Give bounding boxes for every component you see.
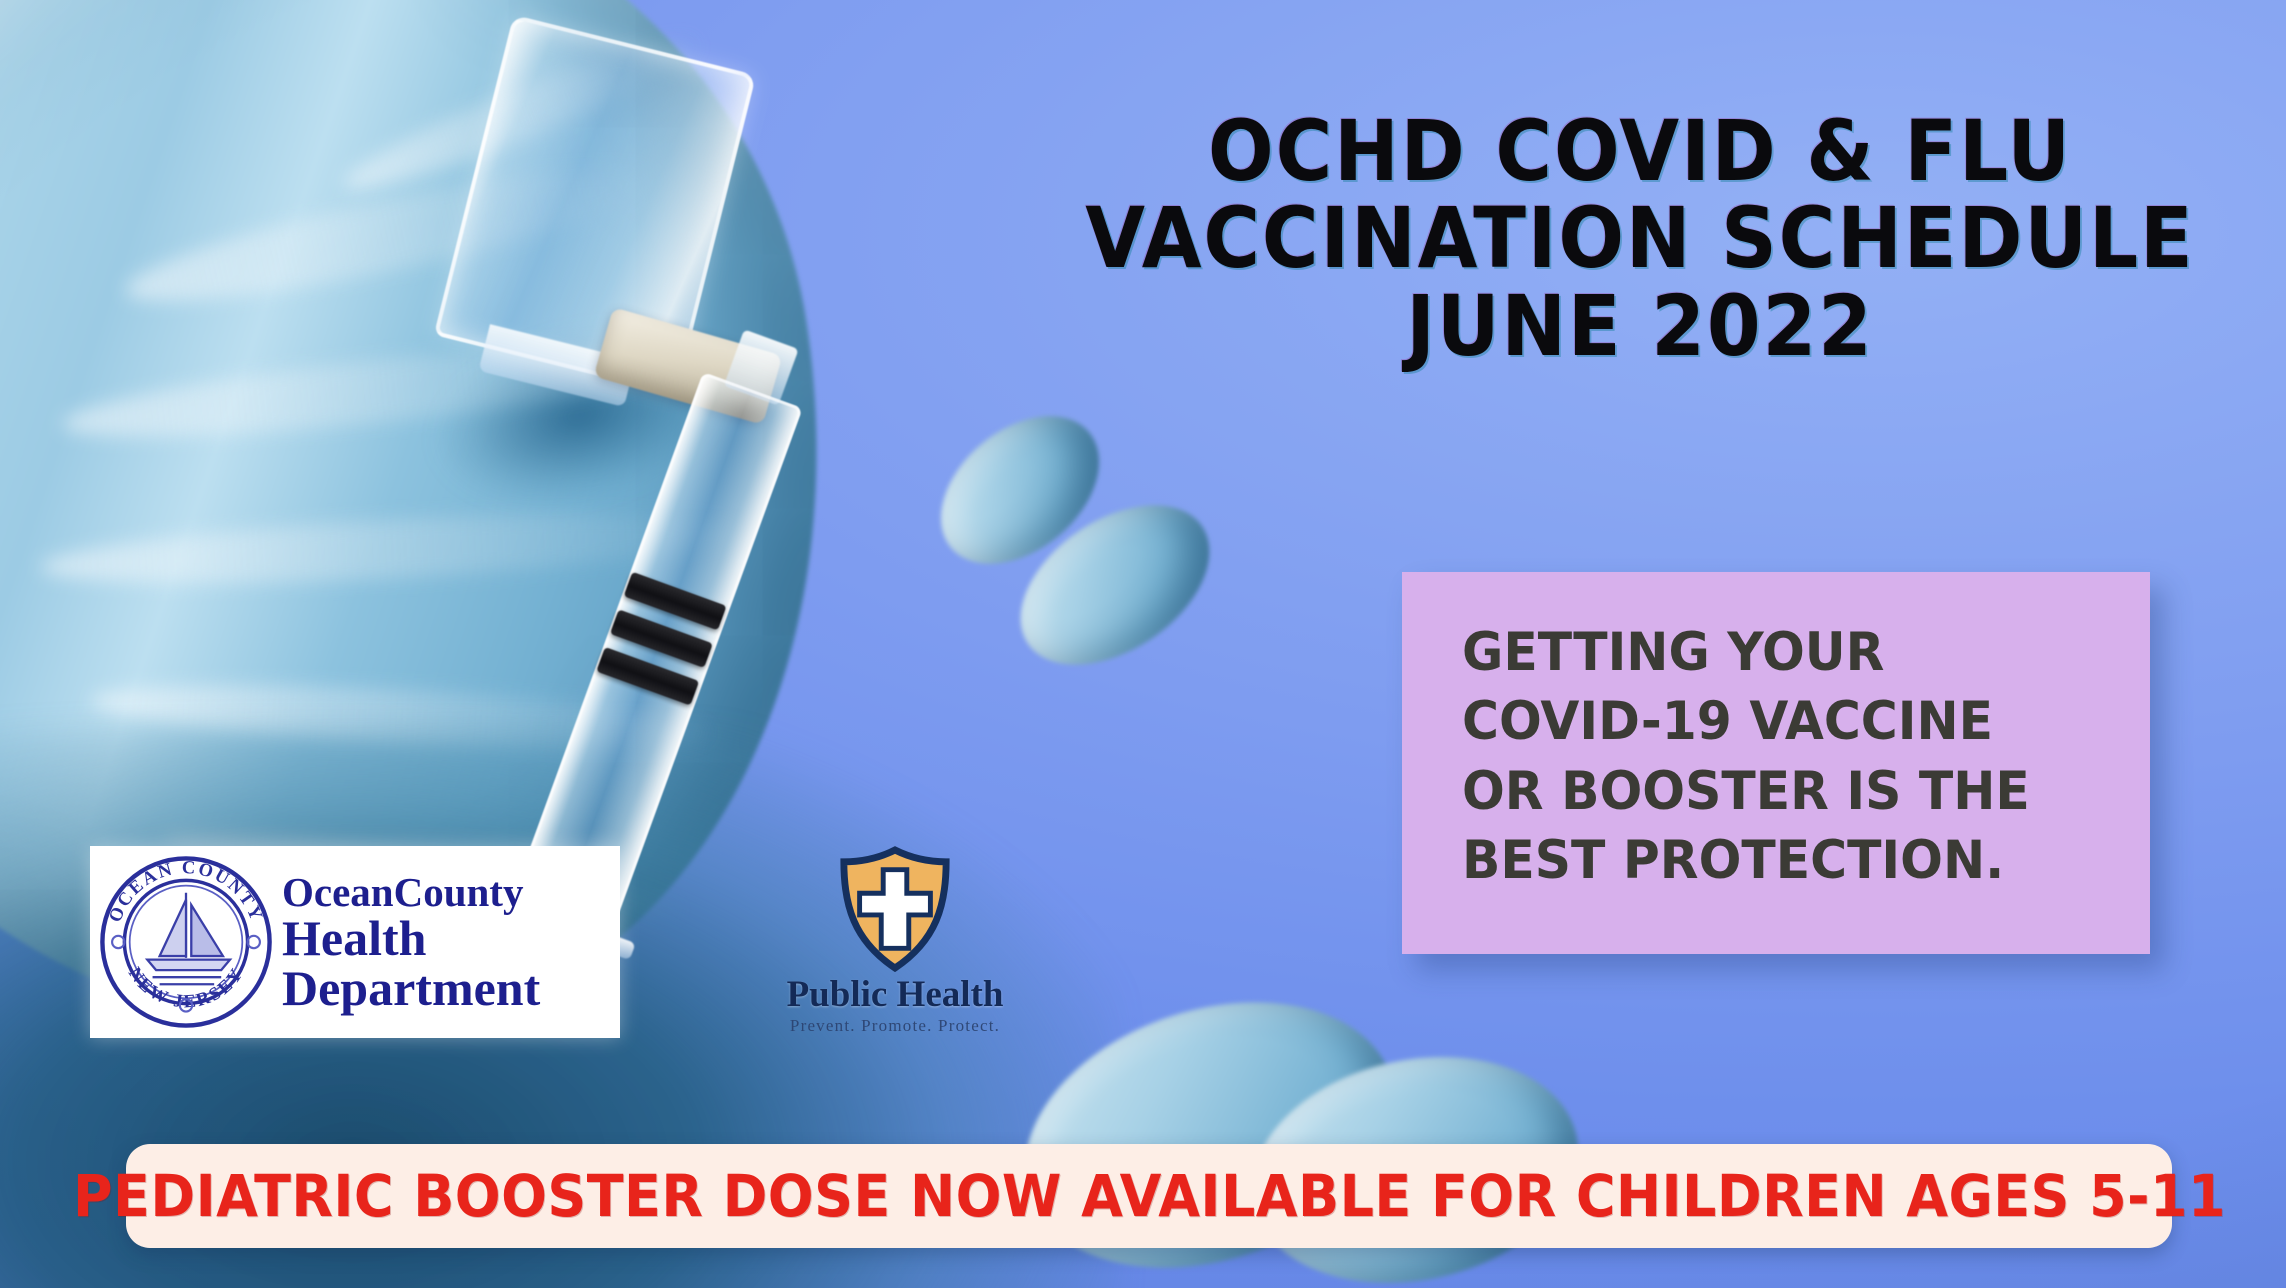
banner-text: PEDIATRIC BOOSTER DOSE NOW AVAILABLE FOR… (73, 1162, 2226, 1230)
statement-line-2: COVID-19 VACCINE (1462, 687, 2093, 756)
ochd-wordmark: OceanCounty Health Department (282, 872, 540, 1013)
public-health-tagline: Prevent. Promote. Protect. (775, 1016, 1015, 1036)
pediatric-booster-banner: PEDIATRIC BOOSTER DOSE NOW AVAILABLE FOR… (126, 1144, 2172, 1248)
ochd-name-line-3: Department (282, 963, 540, 1013)
ochd-logo: OCEAN COUNTY NEW JERSEY Ocean (90, 846, 620, 1038)
statement-box: GETTING YOUR COVID-19 VACCINE OR BOOSTER… (1402, 572, 2150, 954)
statement-line-1: GETTING YOUR (1462, 618, 2093, 687)
shield-cross-icon (836, 846, 954, 972)
headline-line-1: OCHD COVID & FLU (1070, 108, 2211, 195)
public-health-name: Public Health (775, 976, 1015, 1013)
headline-line-2: VACCINATION SCHEDULE (1070, 195, 2211, 282)
ochd-name-line-1: OceanCounty (282, 872, 540, 913)
statement-line-4: BEST PROTECTION. (1462, 826, 2093, 895)
ochd-name-line-2: Health (282, 913, 540, 963)
ocean-county-seal-icon: OCEAN COUNTY NEW JERSEY (98, 854, 274, 1030)
vaccination-schedule-poster: OCHD COVID & FLU VACCINATION SCHEDULE JU… (0, 0, 2286, 1288)
headline-line-3: JUNE 2022 (1070, 283, 2211, 370)
statement-text: GETTING YOUR COVID-19 VACCINE OR BOOSTER… (1462, 618, 2126, 896)
poster-headline: OCHD COVID & FLU VACCINATION SCHEDULE JU… (1020, 108, 2260, 370)
statement-line-3: OR BOOSTER IS THE (1462, 757, 2093, 826)
public-health-logo: Public Health Prevent. Promote. Protect. (775, 846, 1015, 1042)
